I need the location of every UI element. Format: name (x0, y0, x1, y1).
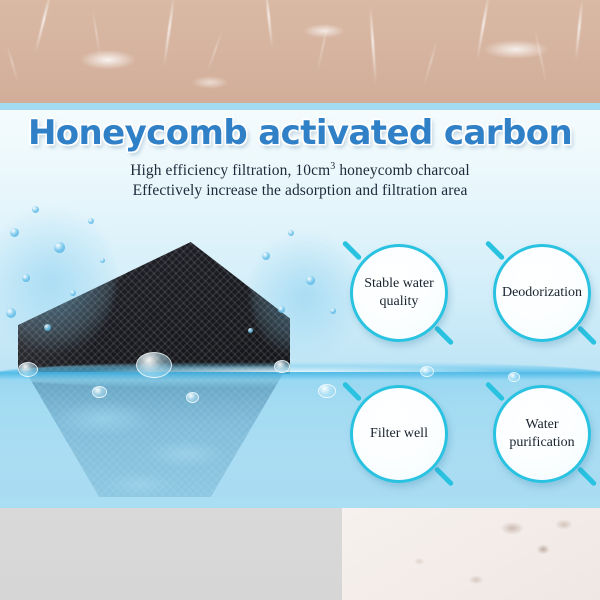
water-droplet (6, 308, 16, 318)
water-surface-highlight (0, 358, 600, 372)
water-droplet (70, 290, 76, 296)
water-droplet (306, 276, 315, 285)
subtitle-line-1-text-b: honeycomb charcoal (335, 162, 469, 179)
bottom-stone-texture-pane (342, 508, 600, 600)
water-bubble (274, 360, 290, 373)
product-banner: Honeycomb activated carbon High efficien… (0, 0, 600, 600)
subtitle-line-1-text-a: High efficiency filtration, 10cm (130, 162, 330, 179)
feature-label: Water purification (496, 416, 588, 453)
water-bubble (92, 386, 107, 398)
water-bubble (186, 392, 199, 403)
feature-circle-stable-water-quality[interactable]: Stable water quality (350, 244, 448, 342)
water-droplet (54, 242, 65, 253)
water-droplet (10, 228, 19, 237)
feature-label: Deodorization (495, 284, 589, 302)
subtitle-line-1: High efficiency filtration, 10cm3 honeyc… (0, 161, 600, 180)
water-bubble (318, 384, 336, 398)
water-droplet (262, 252, 270, 260)
water-bubble (136, 352, 172, 378)
water-splash (250, 230, 360, 360)
feature-label: Filter well (363, 425, 435, 443)
feature-circle-deodorization[interactable]: Deodorization (493, 244, 591, 342)
page-title: Honeycomb activated carbon (0, 113, 600, 153)
water-droplet (278, 306, 285, 313)
water-droplet (88, 218, 94, 224)
water-droplet (32, 206, 39, 213)
water-bubble (18, 362, 38, 377)
water-droplet (100, 258, 105, 263)
bottom-cyan-divider (0, 497, 600, 508)
bottom-gray-pane (0, 508, 342, 600)
feature-label: Stable water quality (353, 275, 445, 312)
water-droplet (248, 328, 253, 333)
feature-circle-water-purification[interactable]: Water purification (493, 385, 591, 483)
feature-circle-filter-well[interactable]: Filter well (350, 385, 448, 483)
water-bubble (508, 372, 520, 382)
marble-texture-band (0, 0, 600, 103)
water-bubble (420, 366, 434, 377)
water-droplet (288, 230, 294, 236)
water-droplet (330, 308, 336, 314)
water-droplet (22, 274, 30, 282)
water-droplet (44, 324, 51, 331)
subtitle-line-2: Effectively increase the adsorption and … (0, 182, 600, 200)
